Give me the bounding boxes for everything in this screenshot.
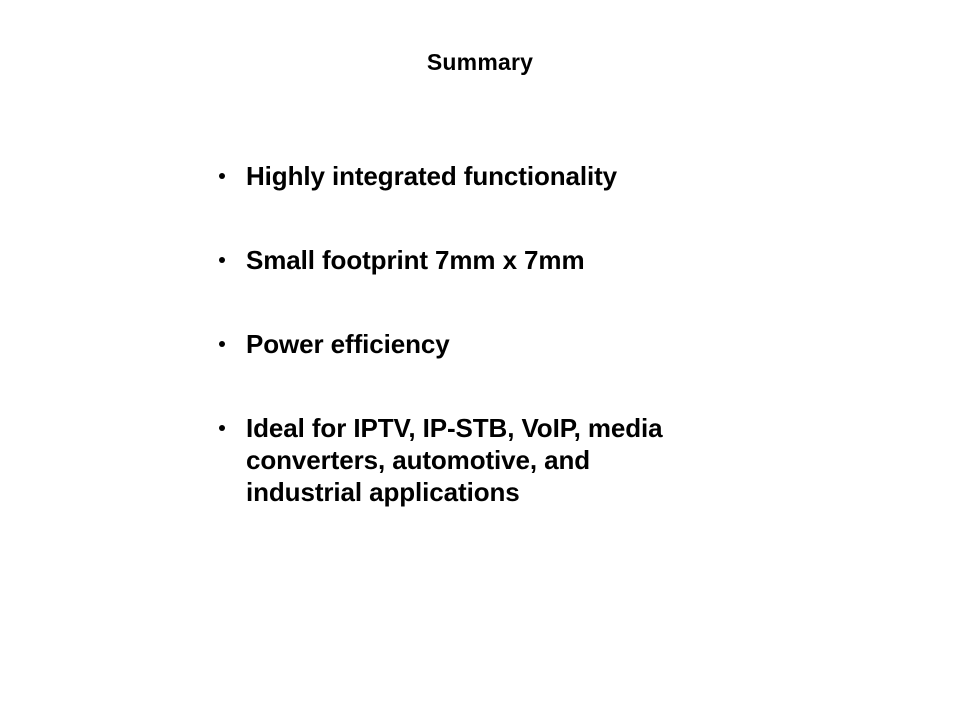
bullet-dot-icon	[219, 341, 225, 347]
list-item-label: Ideal for IPTV, IP-STB, VoIP, media conv…	[246, 412, 776, 508]
list-item: Highly integrated functionality	[216, 160, 776, 192]
list-item-label: Small footprint 7mm x 7mm	[246, 244, 776, 276]
list-item: Ideal for IPTV, IP-STB, VoIP, media conv…	[216, 412, 776, 508]
presentation-slide: Summary Highly integrated functionality …	[0, 0, 960, 720]
list-item: Power efficiency	[216, 328, 776, 360]
page-title: Summary	[0, 48, 960, 76]
list-item: Small footprint 7mm x 7mm	[216, 244, 776, 276]
bullet-dot-icon	[219, 257, 225, 263]
list-item-label: Highly integrated functionality	[246, 160, 776, 192]
summary-bullet-list: Highly integrated functionality Small fo…	[216, 160, 776, 508]
list-item-label: Power efficiency	[246, 328, 776, 360]
bullet-dot-icon	[219, 425, 225, 431]
bullet-dot-icon	[219, 173, 225, 179]
